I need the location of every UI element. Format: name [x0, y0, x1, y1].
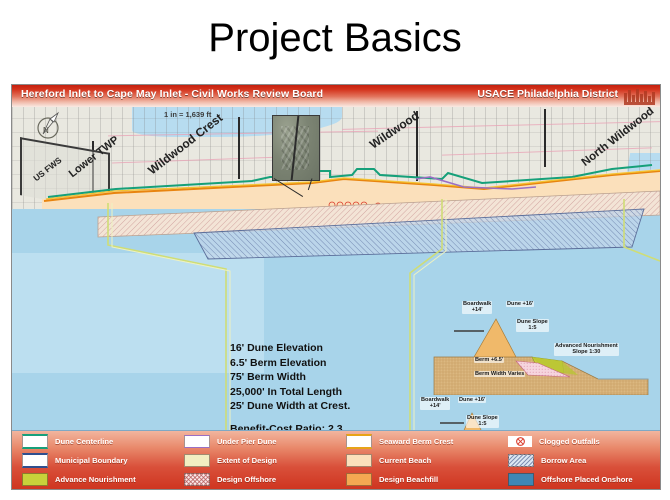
label-berm-top: Berm +6.5'	[474, 357, 504, 363]
legend-item-offshore-placed-onshore[interactable]: Offshore Placed Onshore	[498, 470, 660, 489]
stat-line: 16' Dune Elevation	[230, 341, 368, 356]
legend-label: Advance Nourishment	[55, 475, 136, 484]
legend-item-under-pier-dune[interactable]: Under Pier Dune	[174, 432, 336, 451]
municipal-boundary-swatch	[22, 453, 48, 468]
legend-item-design-beachfill[interactable]: Design Beachfill	[336, 470, 498, 489]
legend-label: Design Beachfill	[379, 475, 438, 484]
label-advanced-nourishment-top: Advanced Nourishment Slope 1:30	[554, 343, 619, 356]
advance-nourishment-swatch	[22, 473, 48, 486]
map-legend: Dune Centerline Under Pier Dune Seaward …	[12, 430, 660, 489]
label-dune-bottom: Dune +16'	[458, 397, 486, 403]
offshore-placed-onshore-swatch	[508, 473, 534, 486]
legend-item-design-offshore[interactable]: Design Offshore	[174, 470, 336, 489]
north-arrow-compass-icon: N	[34, 111, 64, 141]
usace-castle-icon	[622, 87, 656, 105]
design-offshore-swatch	[184, 473, 210, 486]
legend-label: Borrow Area	[541, 456, 586, 465]
svg-text:N: N	[43, 126, 49, 135]
stat-line: 25,000' In Total Length	[230, 385, 368, 400]
page-title: Project Basics	[0, 16, 670, 61]
dune-centerline-swatch	[22, 434, 48, 449]
stat-line: 6.5' Berm Elevation	[230, 356, 368, 371]
seaward-berm-crest-swatch	[346, 434, 372, 449]
legend-item-municipal-boundary[interactable]: Municipal Boundary	[12, 451, 174, 470]
stats-spacer	[230, 414, 368, 422]
borrow-area-swatch	[508, 454, 534, 467]
banner-title-right: USACE Philadelphia District	[477, 88, 618, 100]
legend-label: Seaward Berm Crest	[379, 437, 453, 446]
legend-item-advance-nourishment[interactable]: Advance Nourishment	[12, 470, 174, 489]
banner-title-left: Hereford Inlet to Cape May Inlet - Civil…	[21, 88, 323, 100]
clogged-outfalls-swatch	[508, 436, 532, 447]
legend-label: Design Offshore	[217, 475, 276, 484]
label-boardwalk-top: Boardwalk +14'	[462, 301, 492, 314]
legend-item-dune-centerline[interactable]: Dune Centerline	[12, 432, 174, 451]
legend-item-clogged-outfalls[interactable]: Clogged Outfalls	[498, 432, 660, 451]
label-boardwalk-bottom: Boardwalk +14'	[420, 397, 450, 410]
extent-of-design-swatch	[184, 454, 210, 467]
slide: Project Basics Hereford Inlet to Cape Ma…	[0, 0, 670, 500]
legend-label: Current Beach	[379, 456, 431, 465]
under-pier-dune-swatch	[184, 435, 210, 448]
legend-row-2: Municipal Boundary Extent of Design Curr…	[12, 451, 660, 470]
legend-row-3: Advance Nourishment Design Offshore Desi…	[12, 470, 660, 489]
figure-banner: Hereford Inlet to Cape May Inlet - Civil…	[12, 85, 660, 108]
legend-label: Offshore Placed Onshore	[541, 475, 633, 484]
map-scale-label: 1 in = 1,639 ft	[164, 110, 211, 119]
municipal-boundary-line	[544, 109, 546, 167]
legend-item-seaward-berm-crest[interactable]: Seaward Berm Crest	[336, 432, 498, 451]
clogged-outfall-icon	[515, 436, 526, 447]
stat-line: 75' Berm Width	[230, 370, 368, 385]
legend-row-1: Dune Centerline Under Pier Dune Seaward …	[12, 432, 660, 451]
label-dune-slope-top: Dune Slope 1:5	[516, 319, 549, 332]
legend-label: Extent of Design	[217, 456, 277, 465]
cross-section-top-graphic	[412, 299, 660, 395]
legend-label: Under Pier Dune	[217, 437, 277, 446]
legend-label: Dune Centerline	[55, 437, 113, 446]
legend-item-borrow-area[interactable]: Borrow Area	[498, 451, 660, 470]
legend-item-extent-of-design[interactable]: Extent of Design	[174, 451, 336, 470]
current-beach-swatch	[346, 454, 372, 467]
legend-item-current-beach[interactable]: Current Beach	[336, 451, 498, 470]
label-berm-width-top: Berm Width Varies	[474, 371, 525, 377]
design-beachfill-swatch	[346, 473, 372, 486]
legend-label: Clogged Outfalls	[539, 437, 600, 446]
label-dune-slope-bottom: Dune Slope 1:5	[466, 415, 499, 428]
stat-line: 25' Dune Width at Crest.	[230, 399, 368, 414]
legend-label: Municipal Boundary	[55, 456, 128, 465]
project-figure: Hereford Inlet to Cape May Inlet - Civil…	[11, 84, 661, 490]
label-dune-top: Dune +16'	[506, 301, 534, 307]
cross-section-boardwalk-reach[interactable]: Boardwalk +14' Dune +16' Dune Slope 1:5 …	[412, 299, 660, 395]
